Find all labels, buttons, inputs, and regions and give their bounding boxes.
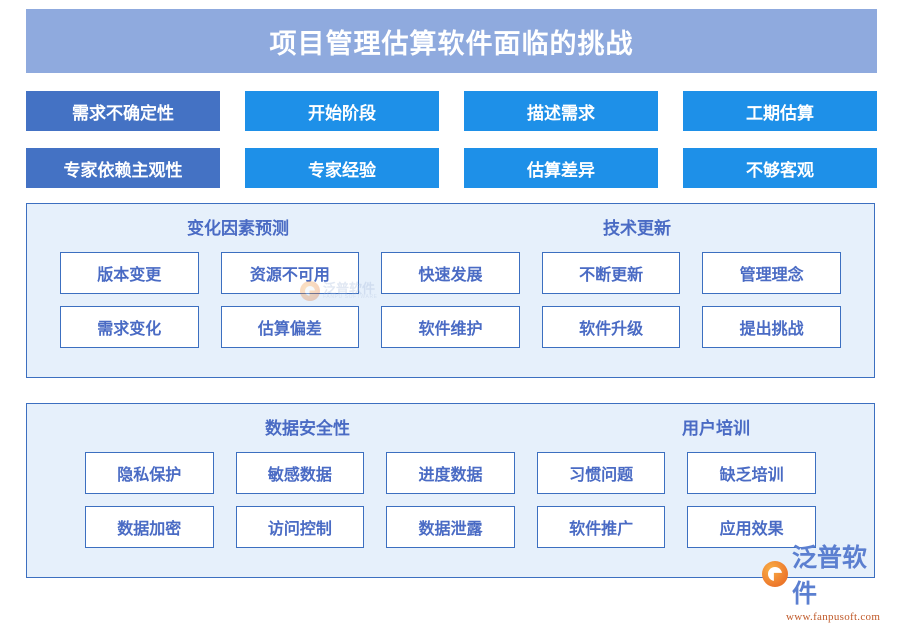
card-two-chip-grid: 隐私保护 敏感数据 进度数据 习惯问题 缺乏培训 数据加密 访问控制 数据泄露 … (27, 452, 874, 548)
challenge-pill-describe-requirement[interactable]: 描述需求 (464, 91, 658, 131)
chip-software-promotion[interactable]: 软件推广 (537, 506, 666, 548)
chip-sensitive-data[interactable]: 敏感数据 (236, 452, 365, 494)
card-change-and-technology: 变化因素预测 技术更新 版本变更 资源不可用 快速发展 不断更新 管理理念 需求… (26, 203, 875, 378)
chip-lack-of-training[interactable]: 缺乏培训 (687, 452, 816, 494)
card-two-chip-row-1: 隐私保护 敏感数据 进度数据 习惯问题 缺乏培训 (85, 452, 816, 494)
chip-requirement-change[interactable]: 需求变化 (60, 306, 199, 348)
chip-version-change[interactable]: 版本变更 (60, 252, 199, 294)
challenge-row-1: 需求不确定性 开始阶段 描述需求 工期估算 (26, 91, 877, 131)
card-one-chip-grid: 版本变更 资源不可用 快速发展 不断更新 管理理念 需求变化 估算偏差 软件维护… (27, 252, 874, 348)
slide-canvas: 项目管理估算软件面临的挑战 需求不确定性 开始阶段 描述需求 工期估算 专家依赖… (0, 0, 900, 600)
card-two-chip-row-2: 数据加密 访问控制 数据泄露 软件推广 应用效果 (85, 506, 816, 548)
chip-estimate-deviation[interactable]: 估算偏差 (221, 306, 360, 348)
chip-software-maintenance[interactable]: 软件维护 (381, 306, 520, 348)
challenge-pill-start-phase[interactable]: 开始阶段 (245, 91, 439, 131)
chip-continuous-update[interactable]: 不断更新 (542, 252, 681, 294)
chip-privacy-protection[interactable]: 隐私保护 (85, 452, 214, 494)
challenge-pill-estimate-variance[interactable]: 估算差异 (464, 148, 658, 188)
chip-management-concept[interactable]: 管理理念 (702, 252, 841, 294)
card-one-title-left: 变化因素预测 (187, 214, 289, 239)
chip-pose-challenge[interactable]: 提出挑战 (702, 306, 841, 348)
chip-data-encryption[interactable]: 数据加密 (85, 506, 214, 548)
chip-habit-problem[interactable]: 习惯问题 (537, 452, 666, 494)
card-two-titles: 数据安全性 用户培训 (27, 404, 874, 442)
chip-access-control[interactable]: 访问控制 (236, 506, 365, 548)
challenge-row-2: 专家依赖主观性 专家经验 估算差异 不够客观 (26, 148, 877, 188)
card-one-title-right: 技术更新 (603, 214, 671, 239)
card-security-and-training: 数据安全性 用户培训 隐私保护 敏感数据 进度数据 习惯问题 缺乏培训 数据加密… (26, 403, 875, 578)
card-one-chip-row-1: 版本变更 资源不可用 快速发展 不断更新 管理理念 (60, 252, 841, 294)
page-title: 项目管理估算软件面临的挑战 (270, 22, 634, 61)
chip-data-leakage[interactable]: 数据泄露 (386, 506, 515, 548)
challenge-pill-expert-experience[interactable]: 专家经验 (245, 148, 439, 188)
challenge-pill-not-objective[interactable]: 不够客观 (683, 148, 877, 188)
challenge-pill-requirement-uncertainty[interactable]: 需求不确定性 (26, 91, 220, 131)
chip-software-upgrade[interactable]: 软件升级 (542, 306, 681, 348)
challenge-pill-duration-estimate[interactable]: 工期估算 (683, 91, 877, 131)
card-two-title-left: 数据安全性 (265, 414, 350, 439)
chip-resource-unavailable[interactable]: 资源不可用 (221, 252, 360, 294)
chip-application-effect[interactable]: 应用效果 (687, 506, 816, 548)
chip-progress-data[interactable]: 进度数据 (386, 452, 515, 494)
card-one-chip-row-2: 需求变化 估算偏差 软件维护 软件升级 提出挑战 (60, 306, 841, 348)
challenge-pill-expert-subjectivity[interactable]: 专家依赖主观性 (26, 148, 220, 188)
card-two-title-right: 用户培训 (682, 414, 750, 439)
chip-rapid-development[interactable]: 快速发展 (381, 252, 520, 294)
header-banner: 项目管理估算软件面临的挑战 (26, 9, 877, 73)
corner-logo-url: www.fanpusoft.com (786, 611, 888, 623)
card-one-titles: 变化因素预测 技术更新 (27, 204, 874, 242)
